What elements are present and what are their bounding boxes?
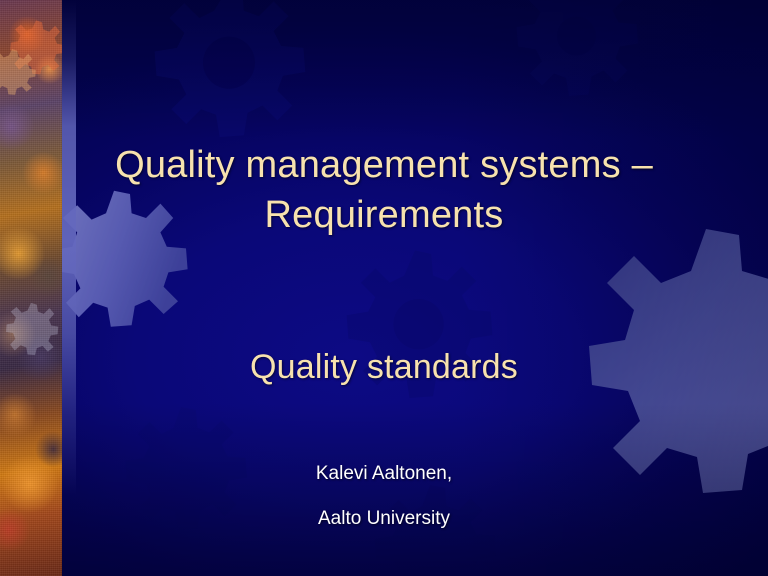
slide-text-layer: Quality management systems – Requirement… [0,0,768,576]
author-affiliation: Aalto University [84,508,684,530]
slide-title: Quality management systems – Requirement… [84,140,684,240]
author-name: Kalevi Aaltonen, [84,463,684,485]
presentation-slide: Quality management systems – Requirement… [0,0,768,576]
slide-subtitle: Quality standards [84,348,684,387]
